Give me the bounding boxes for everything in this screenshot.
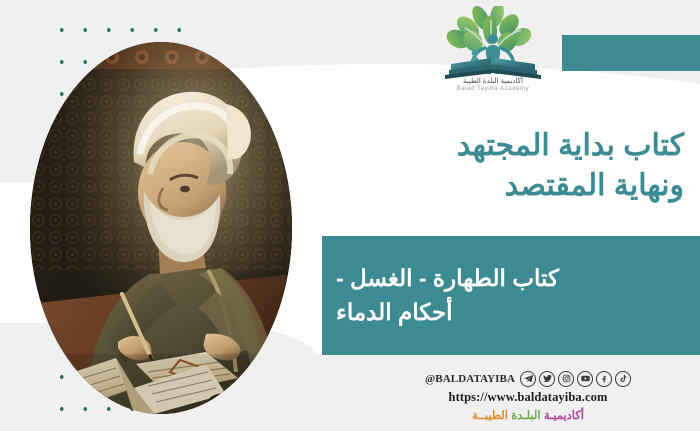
footer: @BALDATAYIBA https://www.baldatayiba.com [360,370,696,422]
logo-english-name: Balad Tayiba Academy [441,86,545,92]
twitter-icon[interactable] [539,371,555,387]
subtitle-line-2: أحكام الدماء [336,296,453,329]
logo-arabic-name: أكاديمية البلدة الطيبة [441,77,545,85]
facebook-icon[interactable] [596,371,612,387]
decorative-teal-bar [562,35,700,71]
academy-word-2: البلـدة [511,410,540,422]
scholar-photo [30,42,292,414]
subtitle-line-1: كتاب الطهارة - الغسل - [336,262,559,295]
subtitle-banner: كتاب الطهارة - الغسل - أحكام الدماء [322,236,700,355]
social-row: @BALDATAYIBA [360,370,696,387]
book-title: كتاب بداية المجتهد ونهاية المقتصد [322,126,684,206]
book-title-line-2: ونهاية المقتصد [322,166,684,206]
academy-word-3: الطيبــة [472,410,508,422]
website-url[interactable]: https://www.baldatayiba.com [360,390,696,405]
academy-name-arabic: أكاديميـة البلـدة الطيبــة [360,408,696,422]
instagram-icon[interactable] [558,371,574,387]
telegram-icon[interactable] [520,371,536,387]
youtube-icon[interactable] [577,371,593,387]
tiktok-icon[interactable] [615,371,631,387]
academy-word-1: أكاديميـة [544,410,584,422]
book-title-line-1: كتاب بداية المجتهد [322,126,684,166]
logo-tree-icon [441,6,545,80]
poster-canvas: أكاديمية البلدة الطيبة Balad Tayiba Acad… [0,0,700,431]
academy-logo: أكاديمية البلدة الطيبة Balad Tayiba Acad… [441,6,545,102]
social-handle: @BALDATAYIBA [425,373,515,385]
